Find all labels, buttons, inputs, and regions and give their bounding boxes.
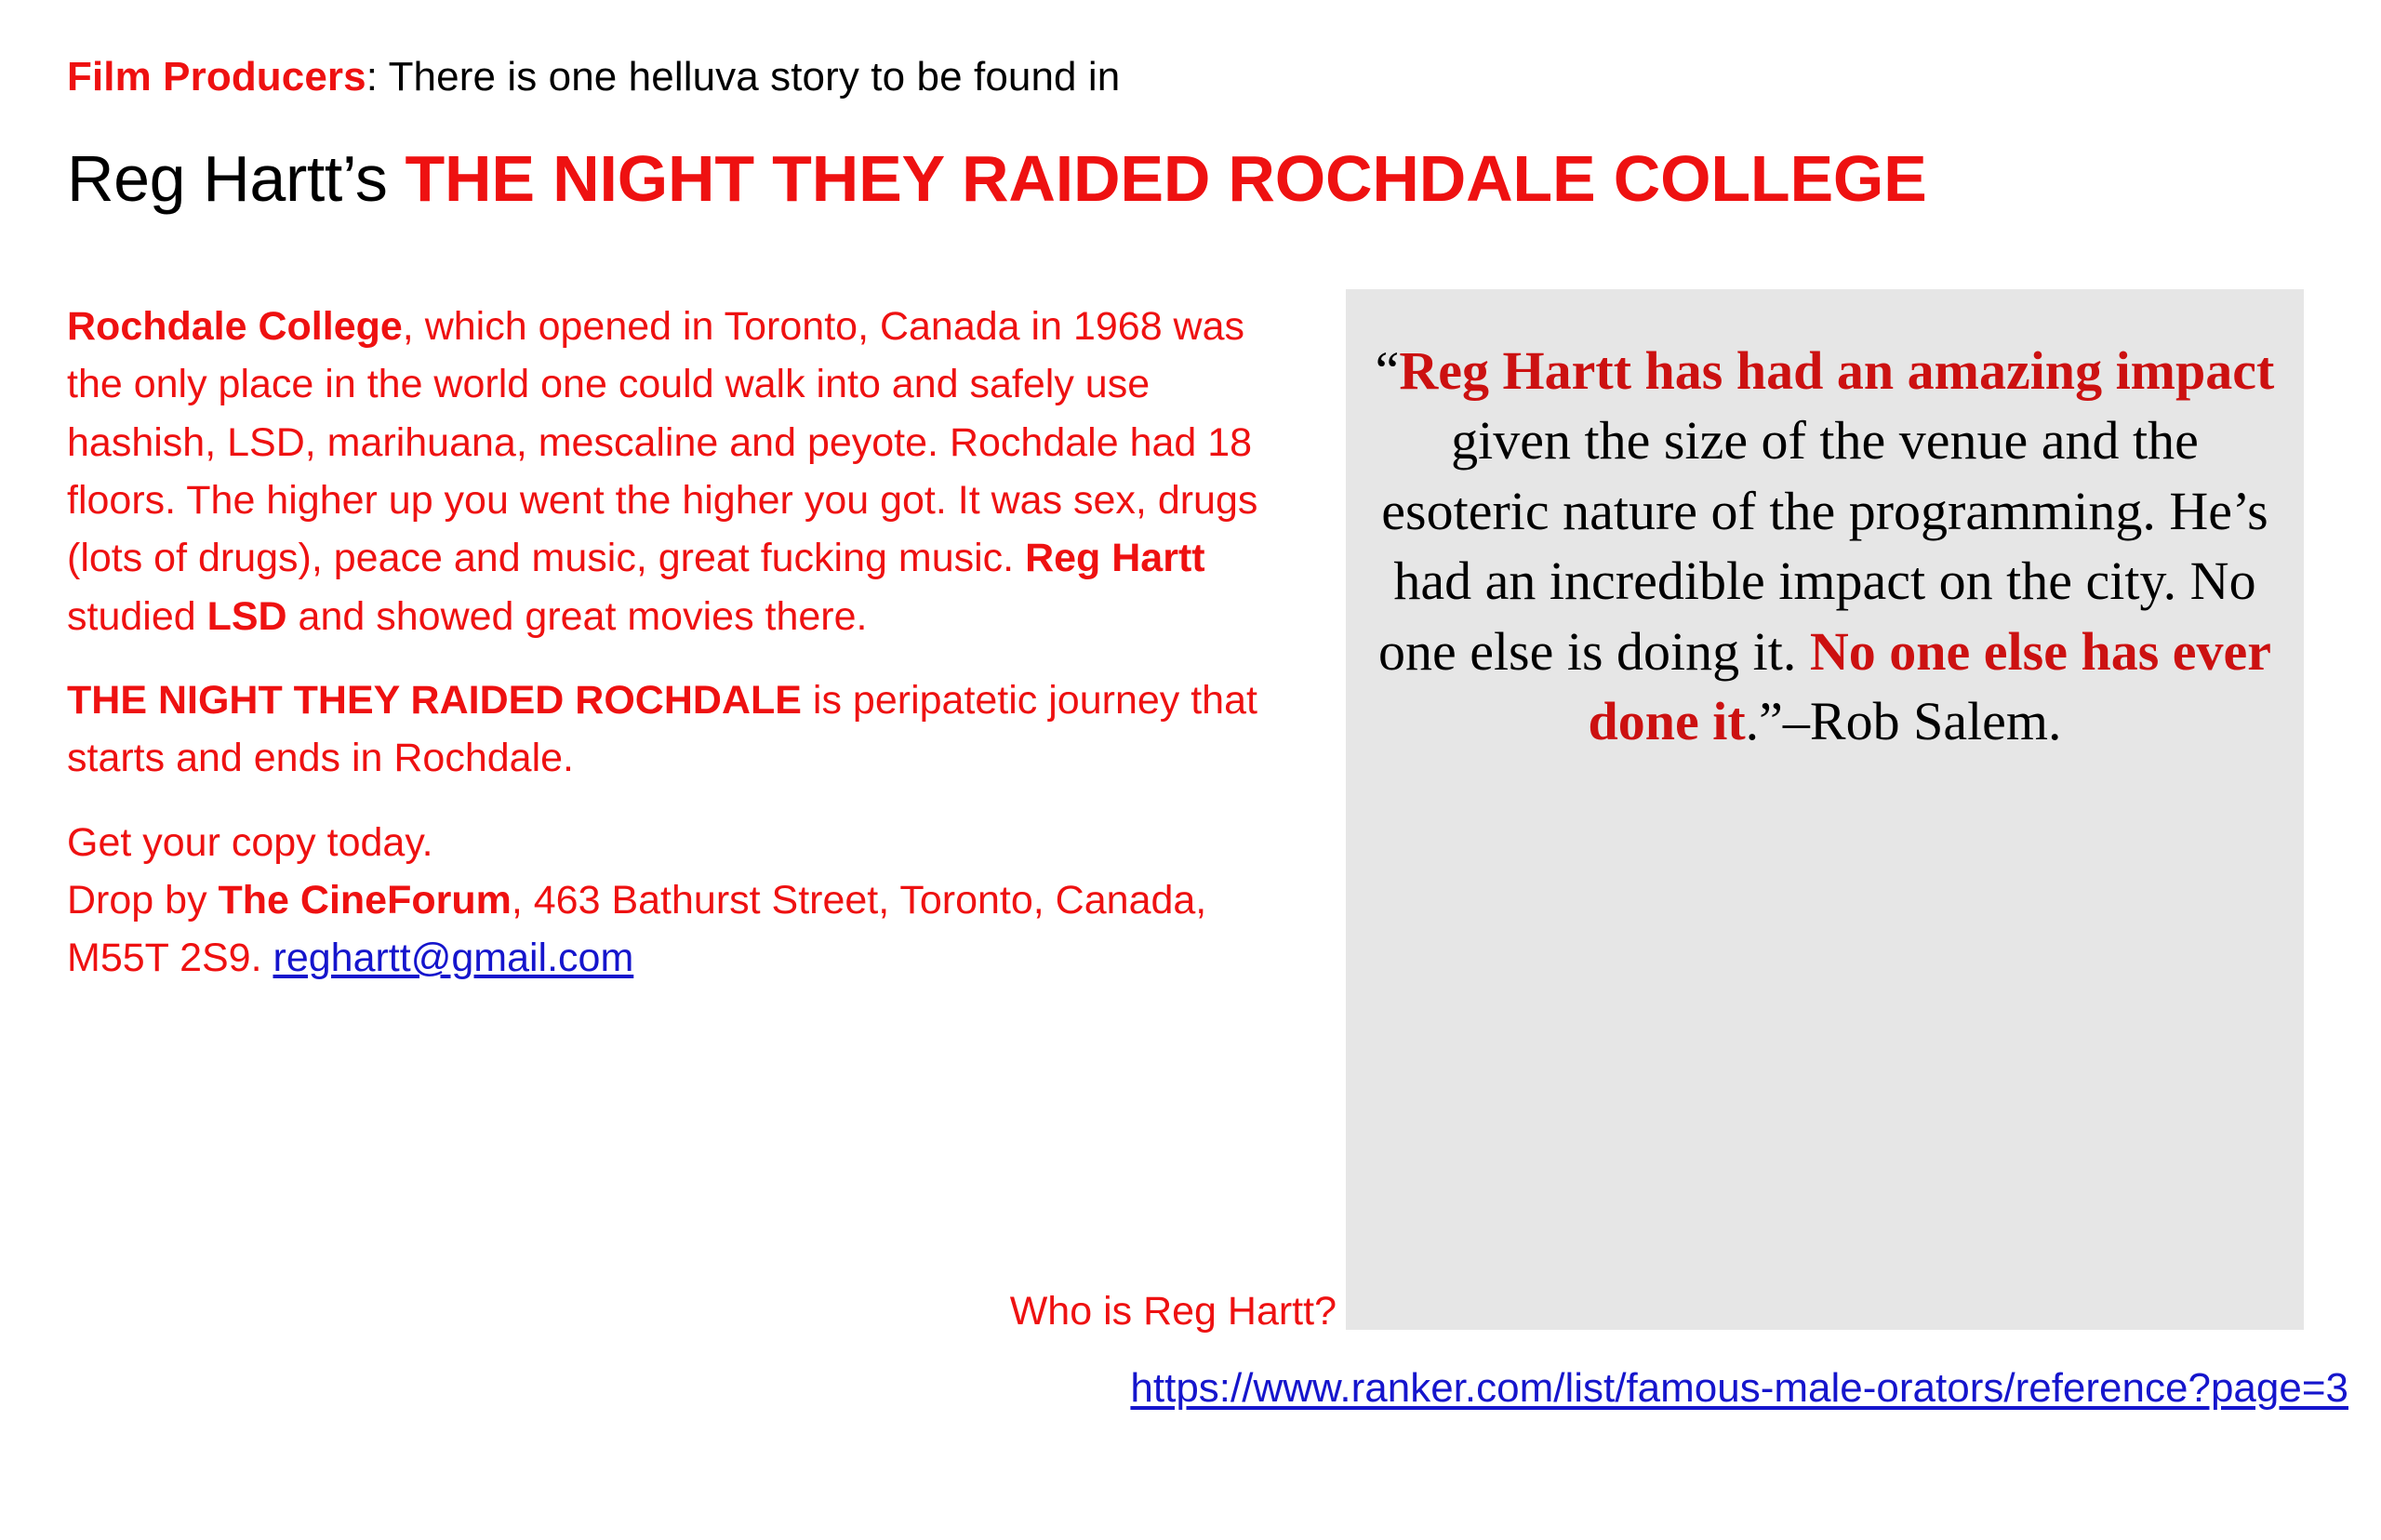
title-main-label: THE NIGHT THEY RAIDED ROCHDALE COLLEGE: [406, 142, 1927, 215]
cineforum-bold-label: The CineForum: [219, 878, 512, 923]
para4-body-a: Drop by: [67, 878, 219, 923]
ranker-url-link[interactable]: https://www.ranker.com/list/famous-male-…: [1130, 1365, 2348, 1411]
reference-url-line: https://www.ranker.com/list/famous-male-…: [0, 1364, 2348, 1414]
page-title: Reg Hartt’s THE NIGHT THEY RAIDED ROCHDA…: [67, 144, 1927, 215]
kicker-lead-label: Film Producers: [67, 54, 366, 100]
para1-body-d: and showed great movies there.: [287, 594, 868, 639]
paragraph-film-description: THE NIGHT THEY RAIDED ROCHDALE is peripa…: [67, 671, 1304, 788]
flyer-page: Film Producers: There is one helluva sto…: [0, 0, 2381, 1540]
paragraph-rochdale-history: Rochdale College, which opened in Toront…: [67, 298, 1304, 645]
film-title-bold-label: THE NIGHT THEY RAIDED ROCHDALE: [67, 678, 802, 723]
who-is-reg-hartt-label: Who is Reg Hartt?: [1010, 1289, 1337, 1334]
testimonial-quote-box: “Reg Hartt has had an amazing impact giv…: [1346, 289, 2304, 1330]
paragraph-contact-address: Drop by The CineForum, 463 Bathurst Stre…: [67, 871, 1304, 988]
para1-body-c: studied: [67, 594, 207, 639]
quote-attribution: .”–Rob Salem.: [1746, 691, 2062, 751]
testimonial-quote-text: “Reg Hartt has had an amazing impact giv…: [1368, 336, 2281, 756]
get-copy-label: Get your copy today.: [67, 820, 433, 865]
kicker-rest-label: : There is one helluva story to be found…: [366, 54, 1121, 100]
kicker-line: Film Producers: There is one helluva sto…: [67, 54, 1120, 100]
lsd-bold-label: LSD: [207, 594, 287, 639]
left-body-column: Rochdale College, which opened in Toront…: [67, 298, 1304, 1014]
quote-highlight-one: Reg Hartt has had an amazing impact: [1399, 340, 2274, 401]
paragraph-call-to-action: Get your copy today.: [67, 814, 1304, 871]
who-is-reg-hartt-line: Who is Reg Hartt?: [0, 1288, 1337, 1336]
email-link[interactable]: reghartt@gmail.com: [273, 936, 634, 980]
title-prefix-label: Reg Hartt’s: [67, 142, 406, 215]
reg-hartt-bold-label: Reg Hartt: [1025, 536, 1205, 580]
rochdale-college-bold-label: Rochdale College: [67, 304, 403, 349]
open-quote-mark: “: [1376, 340, 1400, 401]
